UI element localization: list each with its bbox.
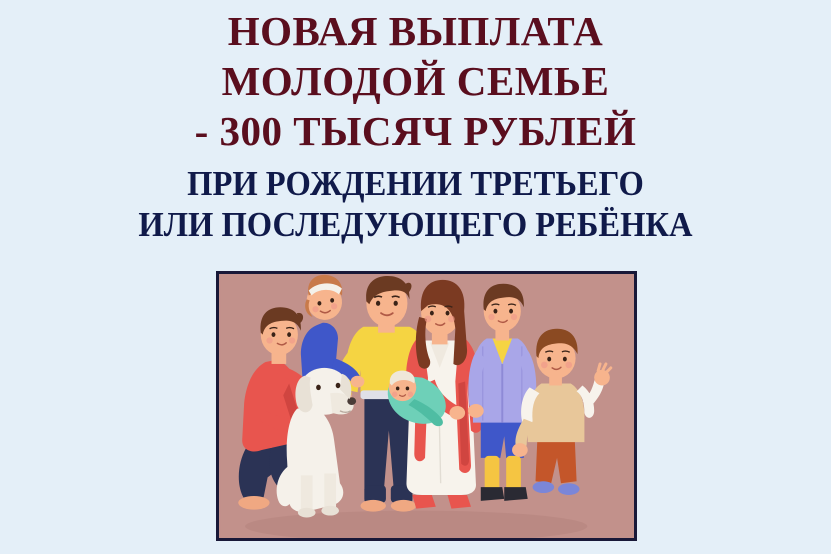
family-illustration [216,271,637,541]
headline: НОВАЯ ВЫПЛАТА МОЛОДОЙ СЕМЬЕ - 300 ТЫСЯЧ … [0,6,831,156]
headline-line-1: НОВАЯ ВЫПЛАТА [0,6,831,56]
headline-line-3: - 300 ТЫСЯЧ РУБЛЕЙ [0,106,831,156]
subheadline: ПРИ РОЖДЕНИИ ТРЕТЬЕГО ИЛИ ПОСЛЕДУЮЩЕГО Р… [29,163,802,245]
headline-line-2: МОЛОДОЙ СЕМЬЕ [0,56,831,106]
subheadline-line-1: ПРИ РОЖДЕНИИ ТРЕТЬЕГО [29,163,802,204]
family-illustration-svg [219,274,634,538]
subheadline-line-2: ИЛИ ПОСЛЕДУЮЩЕГО РЕБЁНКА [29,204,802,245]
poster-root: НОВАЯ ВЫПЛАТА МОЛОДОЙ СЕМЬЕ - 300 ТЫСЯЧ … [0,0,831,554]
